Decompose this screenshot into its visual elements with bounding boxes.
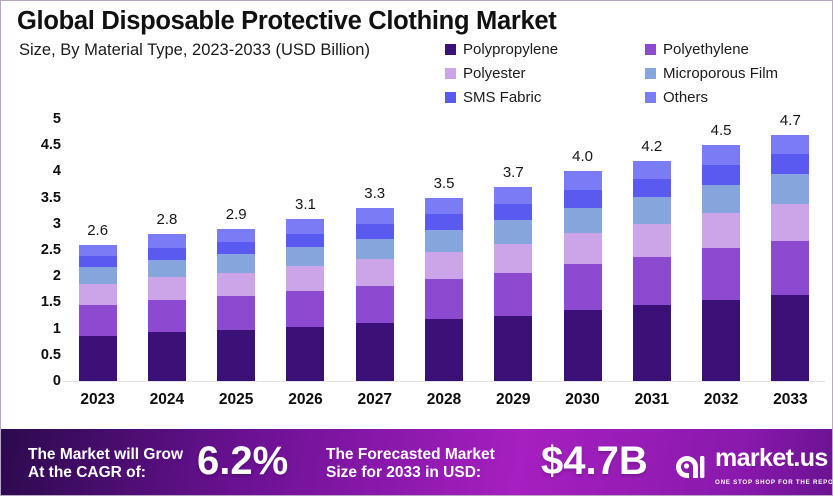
bar-segment-sms-fabric[interactable]	[148, 248, 186, 260]
bar-segment-polyethylene[interactable]	[702, 248, 740, 299]
legend-swatch-icon	[445, 92, 456, 103]
stacked-bar[interactable]	[494, 187, 532, 381]
bar-segment-sms-fabric[interactable]	[217, 242, 255, 254]
bar-segment-polyethylene[interactable]	[771, 241, 809, 295]
bar-segment-polyester[interactable]	[217, 273, 255, 297]
legend-label: Polyester	[463, 65, 526, 82]
bar-series-container: 2.62.82.93.13.33.53.74.04.24.54.7	[63, 119, 825, 381]
stacked-bar[interactable]	[702, 145, 740, 381]
market-us-logo-icon	[673, 453, 707, 483]
stacked-bar[interactable]	[564, 171, 602, 381]
bar-segment-polyethylene[interactable]	[217, 296, 255, 330]
bar-segment-sms-fabric[interactable]	[633, 179, 671, 197]
bar-segment-polypropylene[interactable]	[425, 319, 463, 381]
x-axis-label-2027: 2027	[356, 391, 394, 409]
bar-segment-microporous-film[interactable]	[217, 254, 255, 272]
x-axis-label-2024: 2024	[148, 391, 186, 409]
y-axis-tick: 2.5	[41, 242, 61, 258]
stacked-bar[interactable]	[286, 219, 324, 381]
bar-total-label: 4.5	[711, 122, 732, 139]
x-axis-label-2026: 2026	[286, 391, 324, 409]
bar-group-2026[interactable]: 3.1	[286, 191, 324, 381]
legend-item-polypropylene[interactable]: Polypropylene	[445, 41, 645, 58]
bar-segment-polyethylene[interactable]	[79, 305, 117, 336]
bar-segment-polyethylene[interactable]	[286, 291, 324, 327]
legend-label: Polyethylene	[663, 41, 749, 58]
bar-segment-polypropylene[interactable]	[286, 327, 324, 381]
bar-segment-microporous-film[interactable]	[148, 260, 186, 277]
x-axis-labels: 2023202420252026202720282029203020312032…	[63, 391, 825, 421]
bar-total-label: 3.7	[503, 164, 524, 181]
bar-segment-polypropylene[interactable]	[148, 332, 186, 381]
bar-segment-others[interactable]	[217, 229, 255, 242]
legend-item-microporous-film[interactable]: Microporous Film	[645, 65, 823, 82]
y-axis-tick: 3.5	[41, 190, 61, 206]
y-axis-tick: 1.5	[41, 294, 61, 310]
bar-segment-others[interactable]	[564, 171, 602, 190]
stacked-bar[interactable]	[425, 198, 463, 381]
forecast-value: $4.7B	[541, 439, 648, 484]
legend-swatch-icon	[445, 44, 456, 55]
bar-group-2025[interactable]: 2.9	[217, 201, 255, 381]
y-axis-tick: 3	[53, 216, 61, 232]
bar-group-2027[interactable]: 3.3	[356, 180, 394, 381]
bar-segment-polyester[interactable]	[286, 266, 324, 291]
bar-segment-polypropylene[interactable]	[771, 295, 809, 381]
bar-segment-polypropylene[interactable]	[494, 316, 532, 382]
bar-segment-sms-fabric[interactable]	[771, 154, 809, 174]
chart-plot-area: 00.511.522.533.544.55 2.62.82.93.13.33.5…	[1, 119, 833, 429]
bar-group-2030[interactable]: 4.0	[564, 143, 602, 381]
stacked-bar[interactable]	[771, 135, 809, 381]
legend-swatch-icon	[645, 92, 656, 103]
bar-segment-microporous-film[interactable]	[425, 230, 463, 252]
bar-group-2024[interactable]: 2.8	[148, 206, 186, 381]
bar-group-2029[interactable]: 3.7	[494, 159, 532, 381]
y-axis: 00.511.522.533.544.55	[25, 119, 61, 381]
bar-segment-others[interactable]	[425, 198, 463, 215]
bar-segment-polyethylene[interactable]	[356, 286, 394, 324]
cagr-value: 6.2%	[197, 439, 288, 484]
bar-segment-polyethylene[interactable]	[425, 279, 463, 319]
forecast-label-line1: The Forecasted Market	[326, 446, 495, 463]
bar-segment-polyester[interactable]	[79, 284, 117, 305]
y-axis-tick: 0	[53, 373, 61, 389]
legend-swatch-icon	[645, 44, 656, 55]
bar-segment-others[interactable]	[771, 135, 809, 154]
bar-segment-polyester[interactable]	[771, 204, 809, 241]
bar-segment-sms-fabric[interactable]	[564, 190, 602, 207]
legend-item-others[interactable]: Others	[645, 89, 823, 106]
legend-swatch-icon	[445, 68, 456, 79]
bar-segment-sms-fabric[interactable]	[286, 234, 324, 247]
logo-name: market.us	[715, 444, 828, 472]
bar-segment-polyethylene[interactable]	[633, 257, 671, 305]
y-axis-tick: 2	[53, 268, 61, 284]
bar-total-label: 2.8	[156, 211, 177, 228]
x-axis-label-2030: 2030	[564, 391, 602, 409]
bar-total-label: 3.5	[434, 175, 455, 192]
bar-segment-sms-fabric[interactable]	[79, 256, 117, 267]
bar-total-label: 4.7	[780, 112, 801, 129]
bar-segment-polyester[interactable]	[564, 233, 602, 264]
bar-segment-polyethylene[interactable]	[148, 300, 186, 332]
market-report-infographic: Global Disposable Protective Clothing Ma…	[0, 0, 833, 496]
forecast-label-line2: Size for 2033 in USD:	[326, 464, 481, 481]
bar-segment-others[interactable]	[286, 219, 324, 234]
x-axis-label-2028: 2028	[425, 391, 463, 409]
x-axis-label-2031: 2031	[633, 391, 671, 409]
bar-segment-microporous-film[interactable]	[79, 267, 117, 283]
bar-segment-microporous-film[interactable]	[356, 239, 394, 260]
bar-segment-microporous-film[interactable]	[494, 220, 532, 244]
bar-group-2033[interactable]: 4.7	[771, 107, 809, 381]
bar-segment-polyester[interactable]	[356, 259, 394, 285]
stacked-bar[interactable]	[356, 208, 394, 381]
bar-group-2032[interactable]: 4.5	[702, 117, 740, 381]
bar-group-2023[interactable]: 2.6	[79, 217, 117, 381]
bar-segment-polyester[interactable]	[494, 244, 532, 273]
y-axis-tick: 1	[53, 321, 61, 337]
bar-total-label: 4.0	[572, 148, 593, 165]
y-axis-tick: 0.5	[41, 347, 61, 363]
bar-segment-others[interactable]	[356, 208, 394, 224]
legend-item-sms-fabric[interactable]: SMS Fabric	[445, 89, 645, 106]
cagr-label-line2: At the CAGR of:	[28, 464, 146, 481]
bar-segment-polyester[interactable]	[633, 224, 671, 257]
bar-segment-microporous-film[interactable]	[771, 174, 809, 204]
bar-segment-microporous-film[interactable]	[564, 208, 602, 233]
legend-item-polyester[interactable]: Polyester	[445, 65, 645, 82]
bar-segment-microporous-film[interactable]	[286, 247, 324, 266]
bar-segment-polyester[interactable]	[702, 213, 740, 248]
bar-segment-polyethylene[interactable]	[494, 273, 532, 315]
y-axis-tick: 4	[53, 163, 61, 179]
x-axis-label-2032: 2032	[702, 391, 740, 409]
stacked-bar[interactable]	[148, 234, 186, 381]
x-axis-baseline	[63, 381, 825, 382]
bar-segment-sms-fabric[interactable]	[425, 214, 463, 229]
y-axis-tick: 5	[53, 111, 61, 127]
legend-label: Microporous Film	[663, 65, 778, 82]
stacked-bar[interactable]	[79, 245, 117, 381]
bar-segment-polypropylene[interactable]	[356, 323, 394, 381]
stacked-bar[interactable]	[633, 161, 671, 381]
legend-label: Others	[663, 89, 708, 106]
bar-segment-polypropylene[interactable]	[79, 336, 117, 381]
bar-segment-polypropylene[interactable]	[702, 300, 740, 381]
forecast-label: The Forecasted Market Size for 2033 in U…	[326, 446, 495, 483]
bar-segment-polyester[interactable]	[425, 252, 463, 280]
bar-segment-others[interactable]	[79, 245, 117, 257]
bar-group-2031[interactable]: 4.2	[633, 133, 671, 381]
bar-group-2028[interactable]: 3.5	[425, 170, 463, 381]
legend-label: Polypropylene	[463, 41, 558, 58]
bar-segment-polypropylene[interactable]	[564, 310, 602, 381]
bar-segment-sms-fabric[interactable]	[494, 204, 532, 220]
bar-segment-microporous-film[interactable]	[702, 185, 740, 214]
x-axis-label-2029: 2029	[494, 391, 532, 409]
legend-swatch-icon	[645, 68, 656, 79]
y-axis-tick: 4.5	[41, 137, 61, 153]
chart-subtitle: Size, By Material Type, 2023-2033 (USD B…	[19, 41, 370, 60]
logo-tagline: ONE STOP SHOP FOR THE REPORTS	[715, 479, 833, 486]
logo-wordmark: market.us ONE STOP SHOP FOR THE REPORTS	[715, 446, 833, 489]
summary-banner: The Market will Grow At the CAGR of: 6.2…	[1, 429, 833, 496]
x-axis-label-2025: 2025	[217, 391, 255, 409]
cagr-label: The Market will Grow At the CAGR of:	[28, 446, 183, 483]
bar-segment-sms-fabric[interactable]	[356, 224, 394, 238]
bar-total-label: 3.1	[295, 196, 316, 213]
bar-segment-others[interactable]	[633, 161, 671, 179]
bar-segment-sms-fabric[interactable]	[702, 165, 740, 184]
bar-segment-others[interactable]	[148, 234, 186, 248]
bar-segment-polyester[interactable]	[148, 277, 186, 300]
bar-total-label: 4.2	[641, 138, 662, 155]
bar-segment-polypropylene[interactable]	[217, 330, 255, 381]
bar-segment-polypropylene[interactable]	[633, 305, 671, 381]
cagr-label-line1: The Market will Grow	[28, 446, 183, 463]
legend-label: SMS Fabric	[463, 89, 541, 106]
brand-logo[interactable]: market.us ONE STOP SHOP FOR THE REPORTS	[673, 446, 833, 489]
chart-header: Global Disposable Protective Clothing Ma…	[1, 1, 833, 119]
legend-item-polyethylene[interactable]: Polyethylene	[645, 41, 823, 58]
bar-segment-polyethylene[interactable]	[564, 264, 602, 310]
bar-segment-microporous-film[interactable]	[633, 197, 671, 224]
chart-legend: PolypropylenePolyethylenePolyesterMicrop…	[445, 37, 823, 109]
bar-segment-others[interactable]	[702, 145, 740, 165]
bar-total-label: 2.6	[87, 222, 108, 239]
stacked-bar[interactable]	[217, 229, 255, 381]
x-axis-label-2023: 2023	[79, 391, 117, 409]
page-title: Global Disposable Protective Clothing Ma…	[17, 7, 556, 36]
bar-total-label: 3.3	[364, 185, 385, 202]
bar-segment-others[interactable]	[494, 187, 532, 204]
x-axis-label-2033: 2033	[771, 391, 809, 409]
bar-total-label: 2.9	[226, 206, 247, 223]
